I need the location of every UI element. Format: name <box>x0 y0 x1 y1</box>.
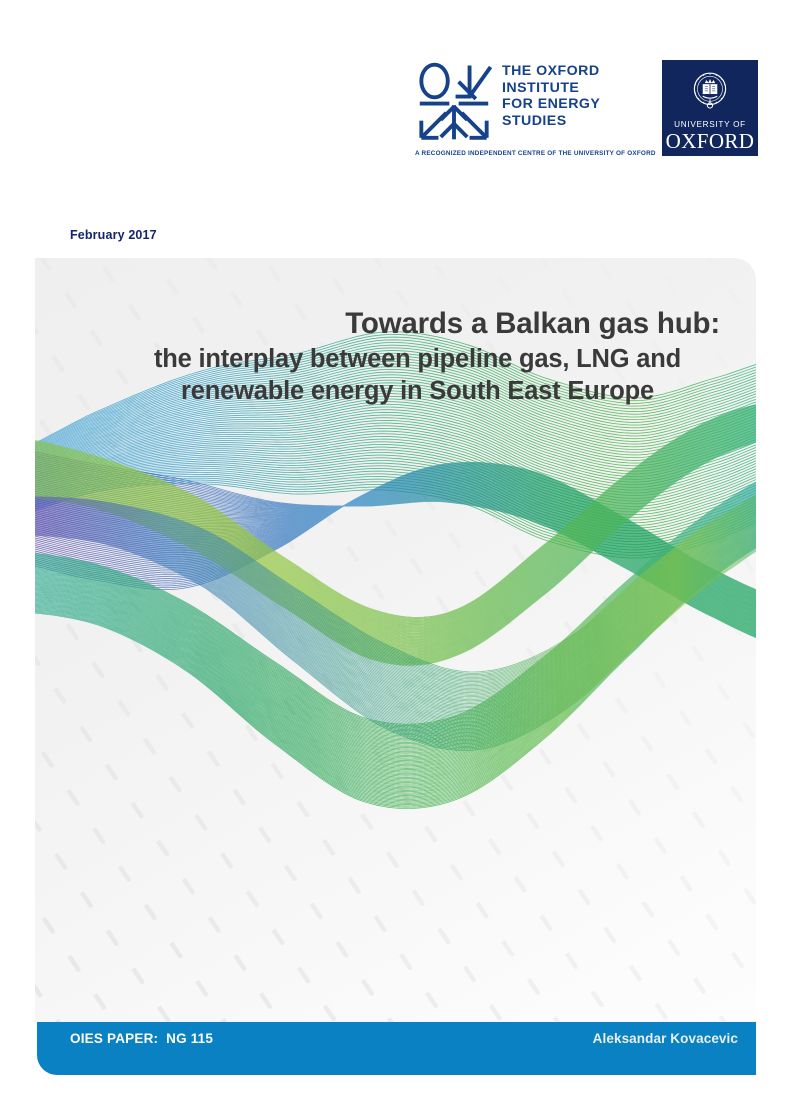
oies-word-line-4: STUDIES <box>502 113 600 130</box>
oxford-crest-icon <box>684 67 736 119</box>
publication-date: February 2017 <box>70 228 157 242</box>
title-line-3: renewable energy in South East Europe <box>55 375 720 407</box>
oies-word-line-2: INSTITUTE <box>502 80 600 97</box>
oies-logo: THE OXFORD INSTITUTE FOR ENERGY STUDIES … <box>415 60 650 158</box>
paper-title: Towards a Balkan gas hub: the interplay … <box>55 305 720 407</box>
oies-word-line-3: FOR ENERGY <box>502 96 600 113</box>
oies-tagline: A RECOGNIZED INDEPENDENT CENTRE OF THE U… <box>415 149 650 158</box>
oxford-logo: UNIVERSITY OF OXFORD <box>662 60 758 156</box>
paper-number-label: OIES PAPER: NG 115 <box>70 1031 213 1046</box>
paper-reference-banner: OIES PAPER: NG 115 Aleksandar Kovacevic <box>37 1022 756 1075</box>
oies-logo-top: THE OXFORD INSTITUTE FOR ENERGY STUDIES <box>415 60 650 144</box>
document-cover-page: THE OXFORD INSTITUTE FOR ENERGY STUDIES … <box>0 0 786 1110</box>
title-line-1: Towards a Balkan gas hub: <box>55 305 720 343</box>
oies-logo-mark <box>415 60 493 144</box>
header-logo-bar: THE OXFORD INSTITUTE FOR ENERGY STUDIES … <box>415 60 760 170</box>
oxford-wordmark: OXFORD <box>666 130 755 152</box>
author-name: Aleksandar Kovacevic <box>593 1031 738 1046</box>
title-line-2: the interplay between pipeline gas, LNG … <box>55 343 720 375</box>
oies-word-line-1: THE OXFORD <box>502 63 600 80</box>
oies-wordmark: THE OXFORD INSTITUTE FOR ENERGY STUDIES <box>502 60 600 129</box>
